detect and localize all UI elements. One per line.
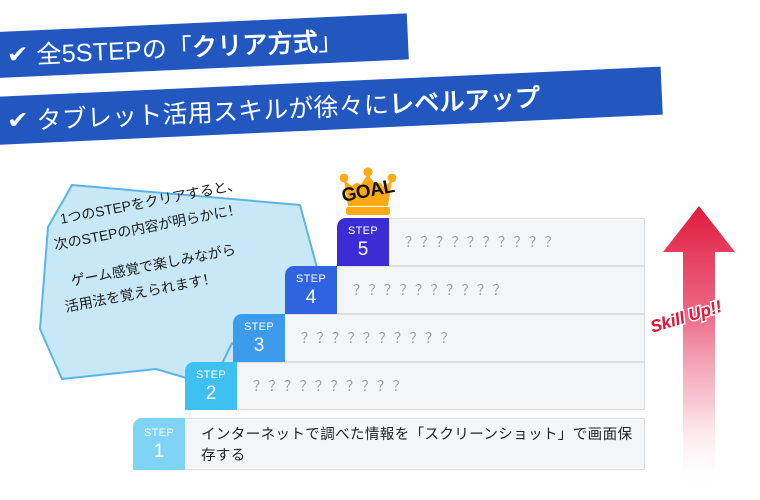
check-icon: ✔: [6, 108, 29, 132]
step-badge-number-1: 1: [154, 442, 165, 461]
step-row-5[interactable]: STEP 5 ？？？？？？？？？？: [337, 218, 645, 266]
step-badge-number-2: 2: [206, 384, 217, 403]
step-content-1: インターネットで調べた情報を「スクリーンショット」で画面保存する: [185, 418, 645, 470]
step-badge-label-3: STEP: [244, 322, 274, 333]
headline-banner-2: ✔ タブレット活用スキルが徐々にレベルアップ: [0, 67, 663, 146]
banner-2-plain: タブレット活用スキルが徐々に: [36, 91, 390, 135]
step-badge-label-5: STEP: [348, 226, 378, 237]
step-content-4: ？？？？？？？？？？: [337, 266, 645, 314]
banner-2-bold: レベルアップ: [388, 84, 540, 119]
step-row-2[interactable]: STEP 2 ？？？？？？？？？？: [185, 362, 645, 410]
step-badge-number-3: 3: [254, 336, 265, 355]
skill-up-arrow: Skill Up!! Skill Up!!: [655, 200, 745, 490]
headline-banner-2-text: タブレット活用スキルが徐々にレベルアップ: [36, 78, 541, 137]
step-badge-number-5: 5: [358, 240, 369, 259]
goal-marker: GOAL: [336, 166, 412, 218]
step-row-4[interactable]: STEP 4 ？？？？？？？？？？: [285, 266, 645, 314]
step-row-1[interactable]: STEP 1 インターネットで調べた情報を「スクリーンショット」で画面保存する: [133, 418, 645, 470]
step-row-3[interactable]: STEP 3 ？？？？？？？？？？: [233, 314, 645, 362]
banner-1-plain: 全5STEPの「: [36, 34, 193, 69]
step-badge-1: STEP 1: [133, 418, 185, 470]
step-content-3: ？？？？？？？？？？: [285, 314, 645, 362]
infographic-canvas: ✔ 全5STEPの「クリア方式」 ✔ タブレット活用スキルが徐々にレベルアップ …: [0, 0, 760, 500]
headline-banner-1: ✔ 全5STEPの「クリア方式」: [0, 13, 409, 78]
step-badge-4: STEP 4: [285, 266, 337, 314]
step-badge-2: STEP 2: [185, 362, 237, 410]
step-badge-label-1: STEP: [144, 428, 174, 439]
banner-1-bold: クリア方式: [192, 28, 319, 62]
step-content-2: ？？？？？？？？？？: [237, 362, 645, 410]
arrow-up-icon: [655, 200, 745, 490]
step-badge-label-2: STEP: [196, 370, 226, 381]
headline-banner-1-text: 全5STEPの「クリア方式」: [36, 21, 344, 71]
step-badge-label-4: STEP: [296, 274, 326, 285]
step-badge-3: STEP 3: [233, 314, 285, 362]
step-badge-number-4: 4: [306, 288, 317, 307]
banner-1-tail: 」: [317, 27, 343, 56]
check-icon: ✔: [6, 42, 29, 66]
step-badge-5: STEP 5: [337, 218, 389, 266]
step-content-5: ？？？？？？？？？？: [389, 218, 645, 266]
